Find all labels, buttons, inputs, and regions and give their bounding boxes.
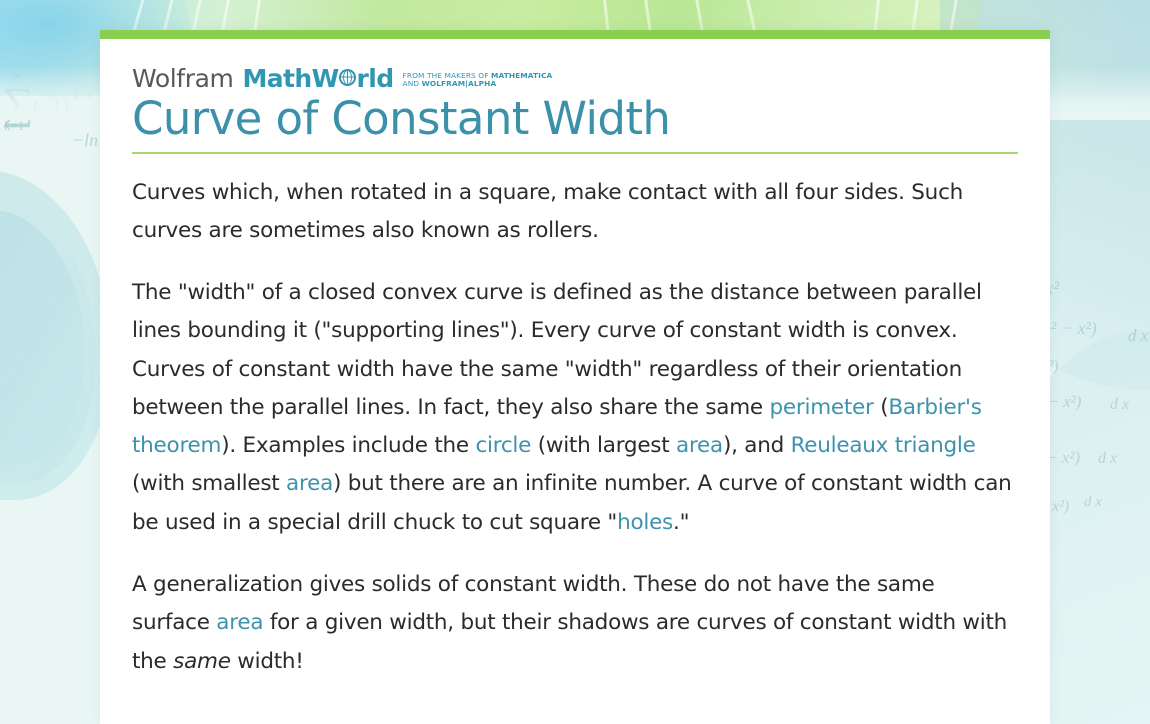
article-paragraph: A generalization gives solids of constan… [132,566,1018,681]
article-paragraph: The "width" of a closed convex curve is … [132,274,1018,542]
card-inner: Wolfram MathWrld FROM THE MAKERS OF MATH… [100,39,1050,681]
logo-wolfram-text: Wolfram [132,66,233,91]
tagline-line-1-bold: MATHEMATICA [491,71,552,80]
background-formula: d x [1110,396,1129,414]
article-link[interactable]: Reuleaux triangle [791,433,976,458]
logo-mathworld-text: MathWrld [242,66,393,91]
background-formula: d x [1128,326,1148,346]
article-link[interactable]: perimeter [770,395,874,420]
article-link[interactable]: circle [475,433,531,458]
article-text: (with largest [531,433,676,458]
tagline-line-2-prefix: AND [403,79,422,88]
article-text: width! [231,649,304,674]
globe-icon [339,69,356,86]
article-link[interactable]: area [676,433,723,458]
tagline-line-1-prefix: FROM THE MAKERS OF [403,71,491,80]
article-text: ." [673,510,689,535]
background-formula: x²) [1052,498,1069,516]
article-link[interactable]: area [286,471,333,496]
article-paragraph: Curves which, when rotated in a square, … [132,174,1018,251]
article-text: ). Examples include the [221,433,475,458]
logo-math-part: Math [242,66,311,91]
article-text: ), and [723,433,791,458]
card-top-accent-bar [100,30,1050,39]
article-link[interactable]: holes [617,510,673,535]
article-text: ( [874,395,889,420]
background-formula: d x [1098,450,1117,468]
background-formula: −ln [72,130,98,151]
background-formula: − x²) [1046,448,1080,468]
tagline-line-2-bold: WOLFRAM|ALPHA [422,79,497,88]
page-title: Curve of Constant Width [132,95,1018,152]
tagline-line-2: AND WOLFRAM|ALPHA [403,80,553,89]
article-link[interactable]: area [216,610,263,635]
article-text: Curves which, when rotated in a square, … [132,180,963,243]
background-formula: d x [1084,494,1102,511]
logo-rld-part: rld [357,66,394,91]
title-divider-rule [132,152,1018,154]
background-formula: k=1 [4,118,24,134]
content-card: Wolfram MathWrld FROM THE MAKERS OF MATH… [100,30,1050,724]
logo-tagline: FROM THE MAKERS OF MATHEMATICA AND WOLFR… [403,72,553,91]
article-text: (with smallest [132,471,286,496]
logo-w-part: W [312,66,339,91]
article-body: Curves which, when rotated in a square, … [132,174,1018,681]
emphasized-text: same [173,649,231,674]
site-logo[interactable]: Wolfram MathWrld FROM THE MAKERS OF MATH… [132,61,1018,91]
